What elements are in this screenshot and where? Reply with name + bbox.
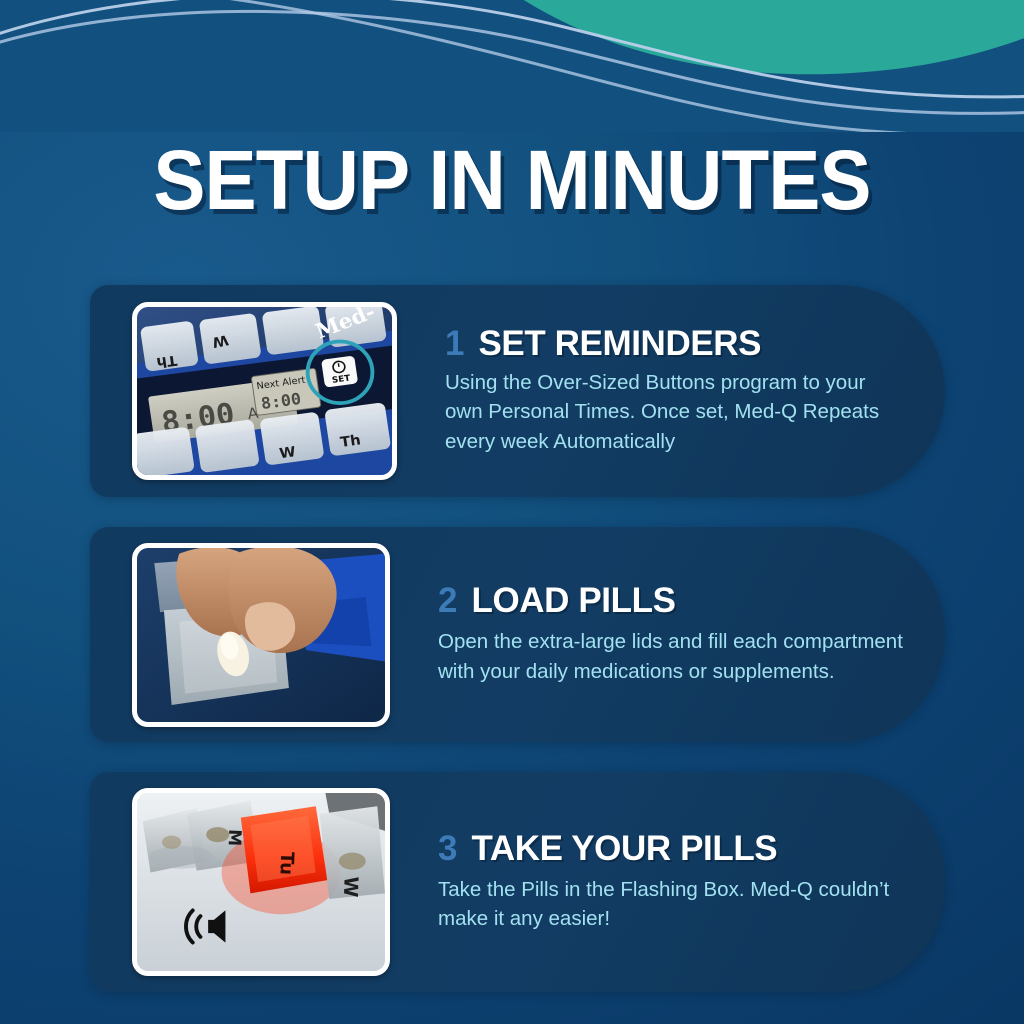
poster-root: SETUP IN MINUTES [0,0,1024,1024]
page-title: SETUP IN MINUTES [36,138,988,222]
step-card-1: Th W 8:00 A Next Alert 8:00 [90,285,945,497]
step-3-title: TAKE YOUR PILLS [471,831,777,866]
steps-list: Th W 8:00 A Next Alert 8:00 [90,285,970,992]
step-3-number: 3 [438,831,457,866]
step-1-body: Using the Over-Sized Buttons program to … [445,368,905,455]
day-label-w2: W [278,444,297,462]
step-2-text: 2 LOAD PILLS Open the extra-large lids a… [390,583,945,685]
step-3-image: Tu W M [132,788,390,976]
day-label-w3: W [339,876,362,898]
step-card-2: 2 LOAD PILLS Open the extra-large lids a… [90,527,945,742]
top-wave-decoration [0,0,1024,132]
step-3-body: Take the Pills in the Flashing Box. Med-… [438,875,905,933]
step-1-image: Th W 8:00 A Next Alert 8:00 [132,302,397,480]
step-1-number: 1 [445,326,464,361]
step-1-text: 1 SET REMINDERS Using the Over-Sized But… [397,326,945,455]
step-2-title: LOAD PILLS [471,583,675,618]
step-card-3: Tu W M 3 TAK [90,772,945,992]
day-label-tu: Tu [275,852,297,876]
day-label-m: M [224,829,245,847]
day-label-th: Th [155,352,178,370]
step-2-heading: 2 LOAD PILLS [438,583,905,618]
step-2-image [132,543,390,727]
step-1-heading: 1 SET REMINDERS [445,326,905,361]
step-3-heading: 3 TAKE YOUR PILLS [438,831,905,866]
step-2-body: Open the extra-large lids and fill each … [438,627,905,685]
step-3-text: 3 TAKE YOUR PILLS Take the Pills in the … [390,831,945,933]
step-2-number: 2 [438,583,457,618]
step-1-title: SET REMINDERS [478,326,761,361]
day-label-th2: Th [339,433,362,451]
